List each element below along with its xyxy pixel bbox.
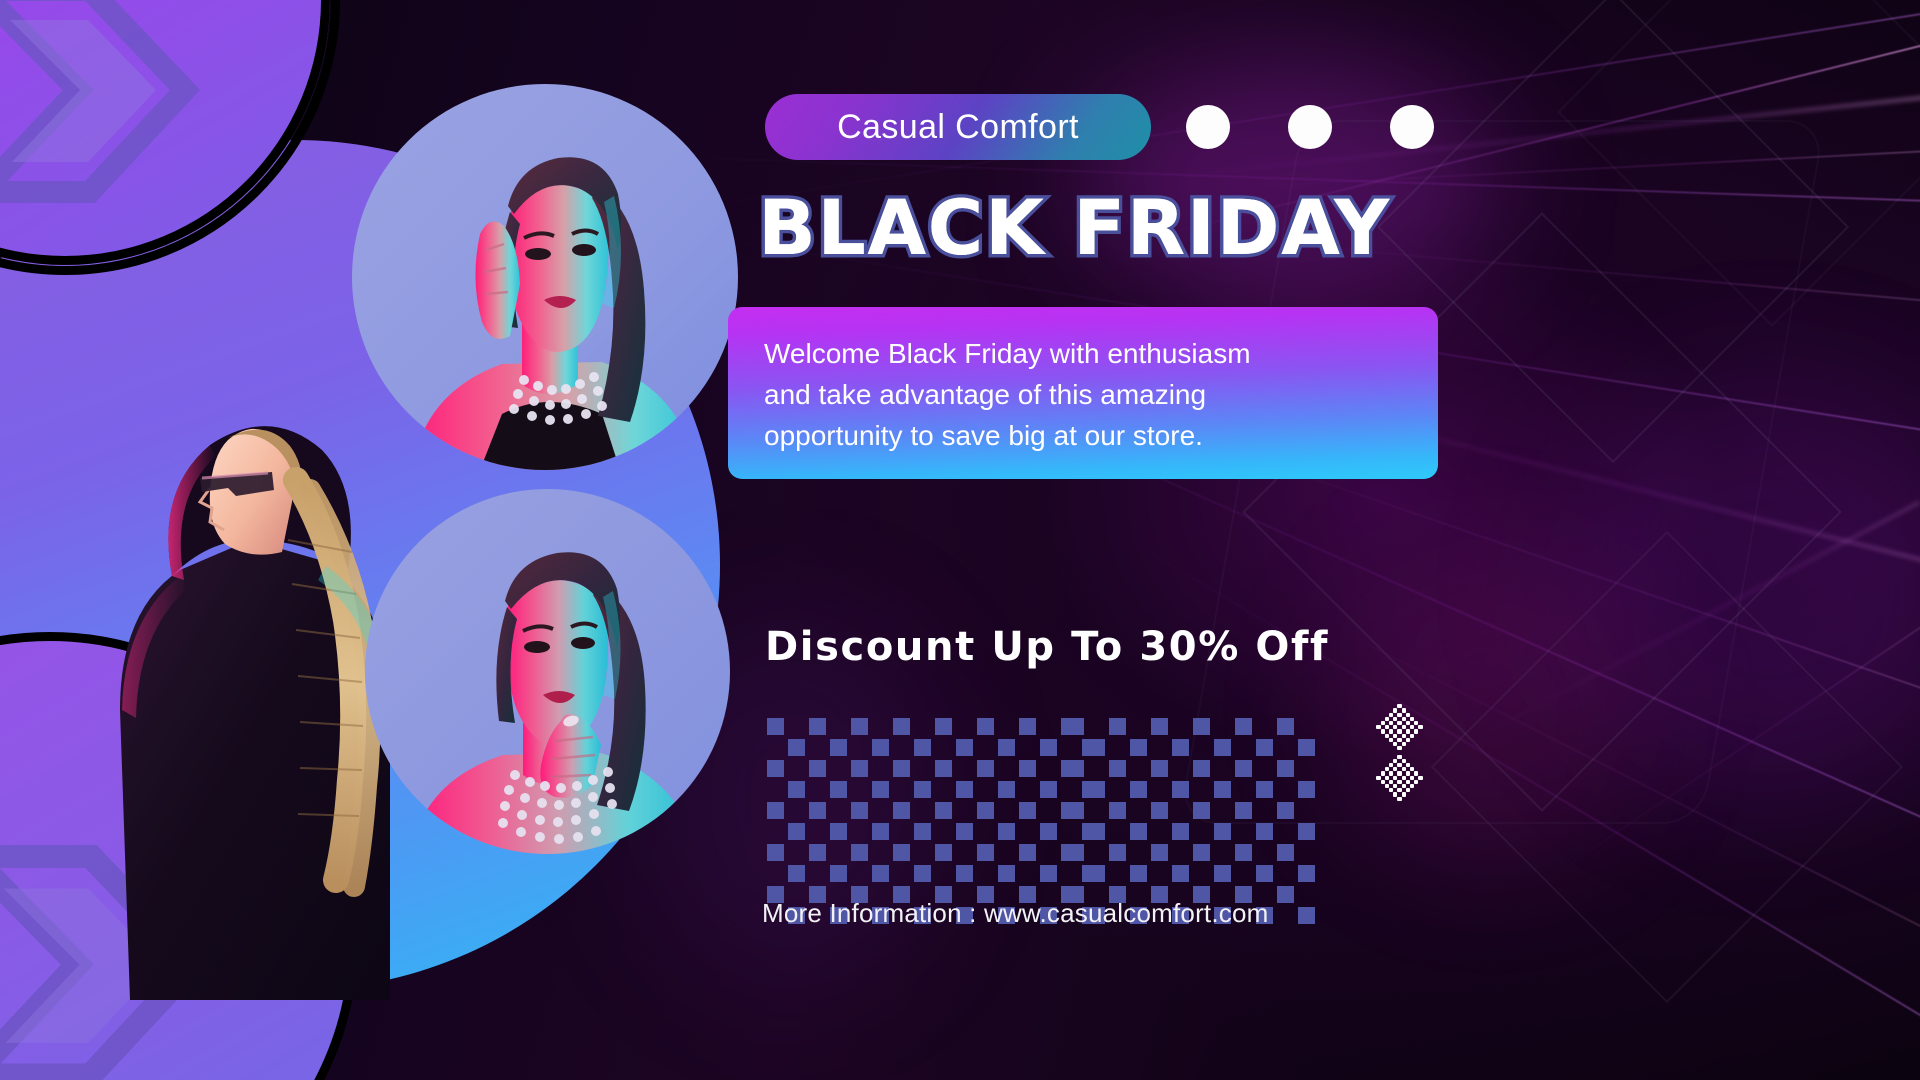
checker-square <box>1298 907 1315 924</box>
checker-square <box>977 802 994 819</box>
checker-square <box>998 739 1015 756</box>
diamond-dot <box>1397 729 1401 733</box>
diamond-dot <box>1393 792 1397 796</box>
checker-square <box>1172 865 1189 882</box>
checker-square <box>1214 865 1231 882</box>
checker-square <box>1193 802 1210 819</box>
checker-square <box>1130 823 1147 840</box>
diamond-dot <box>1397 746 1401 750</box>
diamond-dot <box>1402 759 1406 763</box>
checker-square <box>809 760 826 777</box>
checker-square <box>767 802 784 819</box>
brand-badge-label: Casual Comfort <box>837 108 1079 147</box>
checker-square <box>977 844 994 861</box>
checker-square <box>872 781 889 798</box>
checker-square <box>788 781 805 798</box>
checker-square <box>767 718 784 735</box>
checker-square <box>1193 844 1210 861</box>
diamond-dot <box>1406 738 1410 742</box>
diamond-dot <box>1418 776 1422 780</box>
diamond-dot <box>1397 713 1401 717</box>
checker-square <box>767 760 784 777</box>
checker-square <box>998 781 1015 798</box>
checker-square <box>1109 718 1126 735</box>
checker-square <box>830 823 847 840</box>
checker-square <box>1040 739 1057 756</box>
checker-square <box>1256 781 1273 798</box>
checker-square <box>1040 823 1057 840</box>
checker-square <box>809 718 826 735</box>
diamond-dot <box>1402 708 1406 712</box>
checker-pattern-left <box>767 718 1067 810</box>
checker-square <box>914 739 931 756</box>
checker-square <box>809 844 826 861</box>
checker-square <box>1151 760 1168 777</box>
checker-square <box>1019 760 1036 777</box>
diamond-dot-pattern <box>1368 700 1436 808</box>
checker-square <box>1109 760 1126 777</box>
checker-square <box>830 781 847 798</box>
diamond-dot <box>1410 734 1414 738</box>
description-text: Welcome Black Friday with enthusiasm and… <box>764 333 1404 456</box>
checker-square <box>1256 865 1273 882</box>
checker-square <box>1088 781 1105 798</box>
checker-square <box>1019 802 1036 819</box>
diamond-dot <box>1402 734 1406 738</box>
diamond-dot <box>1376 725 1380 729</box>
checker-square <box>1172 739 1189 756</box>
diamond-dot <box>1410 784 1414 788</box>
checker-square <box>1277 718 1294 735</box>
checker-square <box>956 781 973 798</box>
description-line-3: opportunity to save big at our store. <box>764 420 1203 451</box>
checker-pattern-right <box>1067 718 1312 810</box>
checker-square <box>767 844 784 861</box>
checker-square <box>1151 718 1168 735</box>
checker-square <box>1172 781 1189 798</box>
description-line-1: Welcome Black Friday with enthusiasm <box>764 338 1251 369</box>
checker-square <box>1235 802 1252 819</box>
checker-square <box>935 802 952 819</box>
checker-square <box>1277 802 1294 819</box>
diamond-dot <box>1402 776 1406 780</box>
checker-square <box>1088 865 1105 882</box>
checker-square <box>1019 844 1036 861</box>
checker-square <box>1067 844 1084 861</box>
checker-square <box>1040 865 1057 882</box>
diamond-dot <box>1381 729 1385 733</box>
diamond-dot <box>1397 771 1401 775</box>
checker-square <box>1151 844 1168 861</box>
checker-square <box>956 865 973 882</box>
diamond-dot <box>1406 771 1410 775</box>
checker-square <box>998 823 1015 840</box>
checker-square <box>1235 844 1252 861</box>
diamond-dot <box>1381 771 1385 775</box>
checker-square <box>977 718 994 735</box>
checker-square <box>830 865 847 882</box>
checker-square <box>1151 802 1168 819</box>
checker-square <box>1088 739 1105 756</box>
checker-square <box>1130 739 1147 756</box>
checker-square <box>851 718 868 735</box>
diamond-dot <box>1397 738 1401 742</box>
diamond-dot <box>1414 729 1418 733</box>
diamond-dot <box>1402 742 1406 746</box>
diamond-dot <box>1385 734 1389 738</box>
diamond-dot <box>1402 792 1406 796</box>
checker-square <box>893 760 910 777</box>
checker-square <box>1109 844 1126 861</box>
checker-square <box>851 802 868 819</box>
more-information-text: More Information : www.casualcomfort.com <box>762 898 1269 929</box>
checker-square <box>788 739 805 756</box>
checker-square <box>935 718 952 735</box>
description-line-2: and take advantage of this amazing <box>764 379 1206 410</box>
checker-square <box>1277 886 1294 903</box>
checker-square <box>1256 823 1273 840</box>
brand-badge[interactable]: Casual Comfort <box>765 94 1151 160</box>
checker-square <box>1214 739 1231 756</box>
checker-square <box>872 865 889 882</box>
checker-square <box>1235 760 1252 777</box>
diamond-dot <box>1406 788 1410 792</box>
checker-square <box>872 823 889 840</box>
checker-square <box>1214 781 1231 798</box>
diamond-dot <box>1397 755 1401 759</box>
checker-square <box>893 718 910 735</box>
diamond-dot <box>1406 713 1410 717</box>
checker-square <box>1298 823 1315 840</box>
diamond-dot <box>1389 729 1393 733</box>
diamond-dot <box>1393 708 1397 712</box>
checker-square <box>1256 739 1273 756</box>
checker-square <box>956 823 973 840</box>
model-portrait-top <box>352 84 738 470</box>
checker-square <box>1067 802 1084 819</box>
checker-square <box>1172 823 1189 840</box>
model-portrait-bottom <box>365 489 730 854</box>
diamond-dot <box>1389 771 1393 775</box>
dot-1 <box>1186 105 1230 149</box>
diamond-dot <box>1414 771 1418 775</box>
checker-square <box>893 802 910 819</box>
dot-2 <box>1288 105 1332 149</box>
diamond-dot <box>1397 797 1401 801</box>
checker-square <box>893 844 910 861</box>
diamond-dot <box>1381 780 1385 784</box>
checker-square <box>914 781 931 798</box>
diamond-dot <box>1397 721 1401 725</box>
checker-square <box>851 760 868 777</box>
diamond-dot <box>1406 729 1410 733</box>
checker-square <box>1193 718 1210 735</box>
checker-square <box>1109 802 1126 819</box>
checker-square <box>809 802 826 819</box>
checker-square <box>1193 760 1210 777</box>
checker-square <box>998 865 1015 882</box>
checker-square <box>1067 718 1084 735</box>
diamond-dot <box>1397 788 1401 792</box>
checker-square <box>872 739 889 756</box>
diamond-dot <box>1376 776 1380 780</box>
checker-square <box>1298 739 1315 756</box>
checker-square <box>1019 718 1036 735</box>
checker-square <box>1298 865 1315 882</box>
checker-square <box>788 865 805 882</box>
checker-square <box>1067 760 1084 777</box>
checker-square <box>1277 844 1294 861</box>
dot-3 <box>1390 105 1434 149</box>
checker-square <box>914 865 931 882</box>
checker-square <box>1277 760 1294 777</box>
diamond-dot <box>1402 717 1406 721</box>
diamond-dot <box>1397 704 1401 708</box>
diamond-dot <box>1414 780 1418 784</box>
page-title: BLACK FRIDAY <box>758 188 1448 269</box>
checker-square <box>1088 823 1105 840</box>
checker-square <box>935 844 952 861</box>
diamond-dot <box>1397 763 1401 767</box>
diamond-dot <box>1385 776 1389 780</box>
diamond-dot <box>1418 725 1422 729</box>
checker-square <box>788 823 805 840</box>
diamond-dot <box>1397 780 1401 784</box>
black-friday-banner: Casual Comfort BLACK FRIDAY BLACK FRIDAY… <box>0 0 1920 1080</box>
checker-square <box>1130 781 1147 798</box>
checker-square <box>935 760 952 777</box>
checker-square <box>1235 718 1252 735</box>
checker-square <box>830 739 847 756</box>
checker-square <box>851 844 868 861</box>
description-box: Welcome Black Friday with enthusiasm and… <box>728 307 1438 479</box>
checker-square <box>1298 781 1315 798</box>
checker-square <box>1214 823 1231 840</box>
checker-square <box>1040 781 1057 798</box>
checker-square <box>914 823 931 840</box>
checker-square <box>1130 865 1147 882</box>
discount-headline: Discount Up To 30% Off <box>765 624 1329 670</box>
checker-square <box>956 739 973 756</box>
checker-square <box>977 760 994 777</box>
